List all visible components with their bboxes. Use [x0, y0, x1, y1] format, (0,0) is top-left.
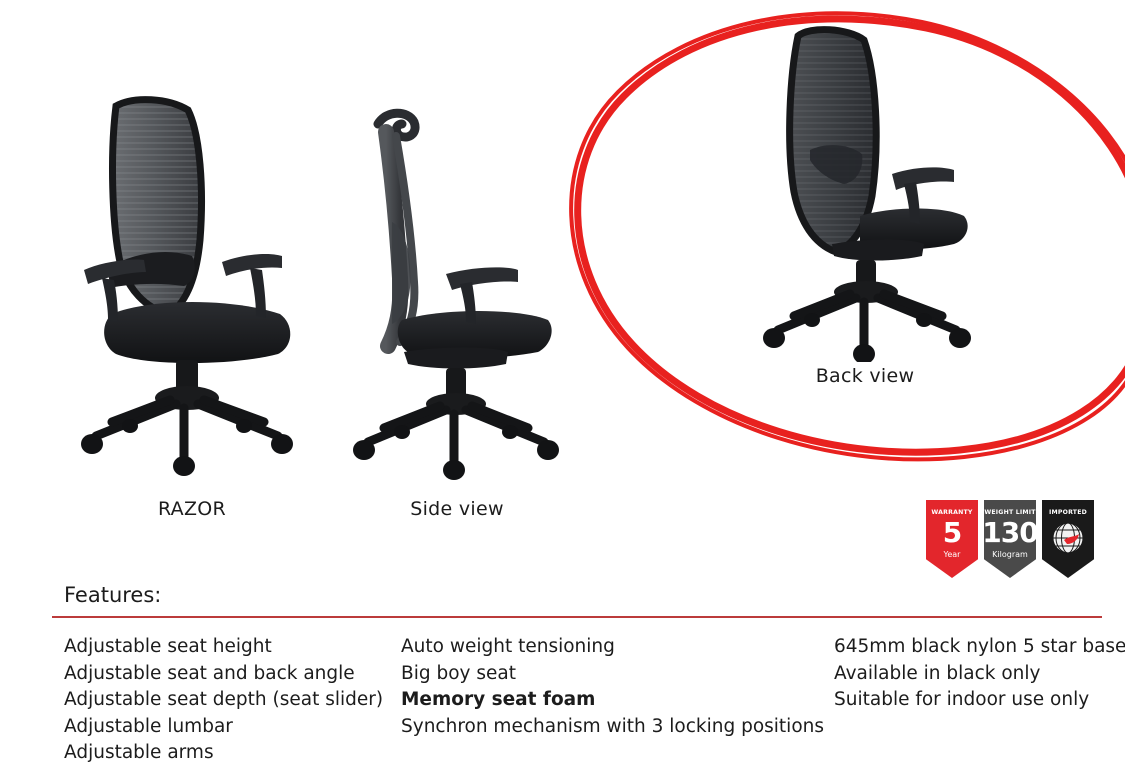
- chair-image-back-view: [752, 24, 980, 362]
- weight-limit-badge-unit: Kilogram: [992, 551, 1028, 559]
- feature-item: 645mm black nylon 5 star base: [834, 634, 1125, 661]
- feature-item: Suitable for indoor use only: [834, 687, 1125, 714]
- chair-image-side-view: [342, 102, 572, 480]
- warranty-badge-unit: Year: [944, 551, 961, 559]
- chair-image-front-view: [72, 92, 312, 482]
- feature-item: Adjustable seat height: [64, 634, 383, 661]
- feature-item: Adjustable lumbar: [64, 714, 383, 741]
- features-heading: Features:: [64, 583, 161, 607]
- caption-front-view: RAZOR: [72, 498, 312, 520]
- warranty-badge: WARRANTY 5 Year: [926, 500, 978, 578]
- imported-badge-title: IMPORTED: [1049, 510, 1087, 516]
- feature-item: Big boy seat: [401, 661, 824, 688]
- weight-limit-badge: WEIGHT LIMIT 130 Kilogram: [984, 500, 1036, 578]
- features-divider: [52, 616, 1102, 618]
- features-column-3: 645mm black nylon 5 star base Available …: [834, 634, 1125, 714]
- weight-limit-badge-value: 130: [982, 519, 1037, 547]
- feature-item: Auto weight tensioning: [401, 634, 824, 661]
- feature-item-highlighted: Memory seat foam: [401, 687, 824, 714]
- globe-icon: [1051, 521, 1085, 559]
- caption-side-view: Side view: [342, 498, 572, 520]
- caption-back-view: Back view: [765, 365, 965, 387]
- feature-item: Available in black only: [834, 661, 1125, 688]
- feature-item: Adjustable seat depth (seat slider): [64, 687, 383, 714]
- trust-badges: WARRANTY 5 Year WEIGHT LIMIT 130 Kilogra…: [926, 500, 1094, 578]
- feature-item: Adjustable arms: [64, 740, 383, 767]
- product-datasheet: RAZOR: [0, 0, 1125, 780]
- feature-item: Adjustable seat and back angle: [64, 661, 383, 688]
- features-column-2: Auto weight tensioning Big boy seat Memo…: [401, 634, 824, 740]
- warranty-badge-value: 5: [943, 519, 961, 547]
- feature-item: Synchron mechanism with 3 locking positi…: [401, 714, 824, 741]
- imported-badge: IMPORTED: [1042, 500, 1094, 578]
- features-column-1: Adjustable seat height Adjustable seat a…: [64, 634, 383, 767]
